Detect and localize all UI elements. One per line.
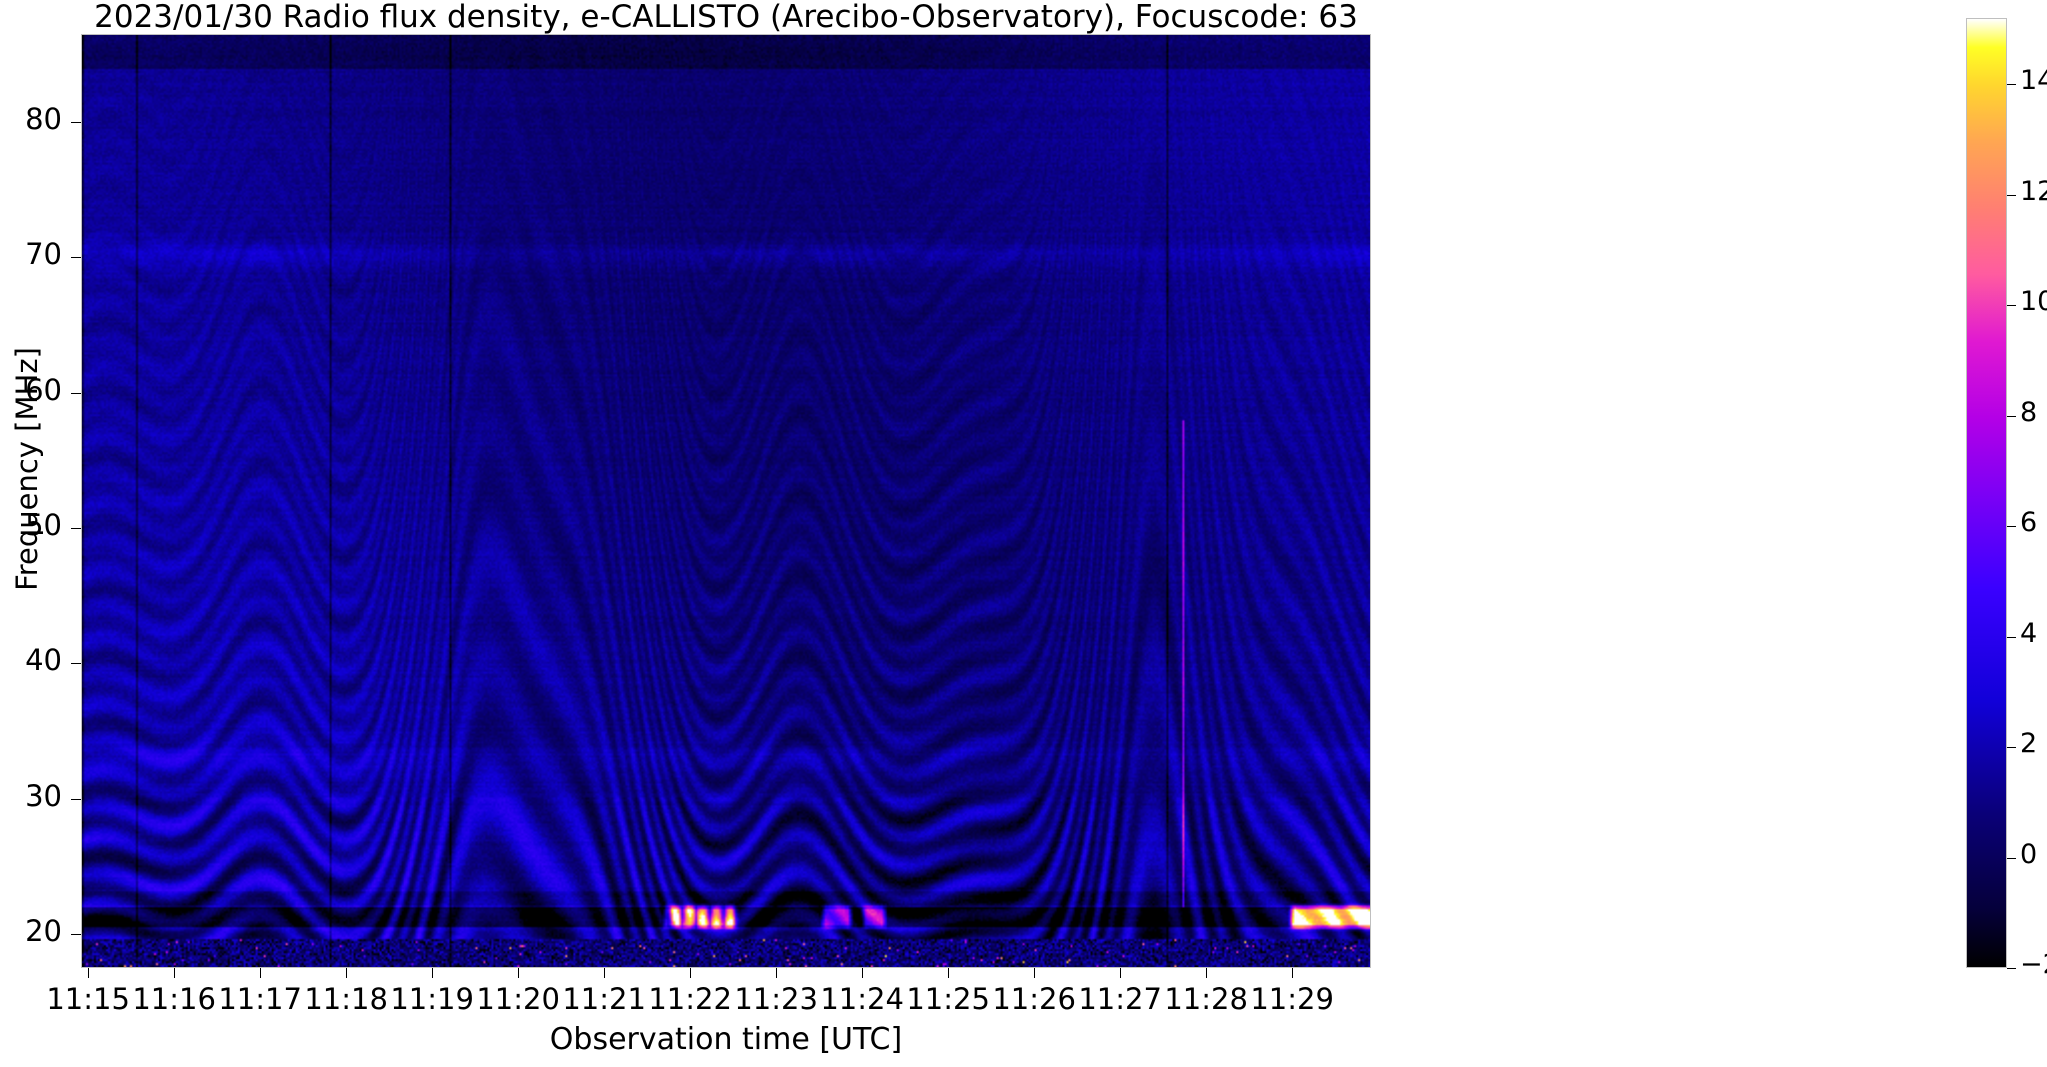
y-tick-label: 30 xyxy=(0,779,62,813)
colorbar-tick-label: 14 xyxy=(2020,65,2047,96)
y-tick-mark xyxy=(71,528,81,529)
colorbar-tick-label: 2 xyxy=(2020,728,2037,759)
spectrogram-axes xyxy=(81,34,1371,968)
colorbar-tick-mark xyxy=(2007,968,2016,969)
y-tick-mark xyxy=(71,799,81,800)
y-tick-mark xyxy=(71,663,81,664)
colorbar-tick-mark xyxy=(2007,747,2016,748)
y-tick-mark xyxy=(71,122,81,123)
colorbar-tick-label: 12 xyxy=(2020,176,2047,207)
x-tick-mark xyxy=(174,968,175,978)
colorbar-tick-label: 4 xyxy=(2020,618,2037,649)
colorbar-tick-mark xyxy=(2007,416,2016,417)
x-tick-mark xyxy=(1206,968,1207,978)
y-tick-mark xyxy=(71,934,81,935)
x-tick-mark xyxy=(862,968,863,978)
y-axis-label: Frequency [MHz] xyxy=(10,229,44,709)
x-tick-mark xyxy=(1120,968,1121,978)
figure-canvas: 2023/01/30 Radio flux density, e-CALLIST… xyxy=(0,0,2047,1067)
y-tick-mark xyxy=(71,257,81,258)
x-tick-label: 11:29 xyxy=(1212,982,1372,1016)
colorbar-tick-label: 10 xyxy=(2020,286,2047,317)
x-axis-label: Observation time [UTC] xyxy=(81,1022,1371,1057)
colorbar-tick-mark xyxy=(2007,526,2016,527)
x-tick-mark xyxy=(948,968,949,978)
x-tick-mark xyxy=(1292,968,1293,978)
colorbar-tick-mark xyxy=(2007,305,2016,306)
y-tick-mark xyxy=(71,393,81,394)
x-tick-mark xyxy=(690,968,691,978)
x-tick-mark xyxy=(432,968,433,978)
y-tick-label: 80 xyxy=(0,102,62,136)
colorbar-tick-mark xyxy=(2007,858,2016,859)
x-tick-mark xyxy=(346,968,347,978)
x-tick-mark xyxy=(776,968,777,978)
colorbar-tick-mark xyxy=(2007,195,2016,196)
x-tick-mark xyxy=(260,968,261,978)
colorbar-tick-label: 0 xyxy=(2020,839,2037,870)
page-title: 2023/01/30 Radio flux density, e-CALLIST… xyxy=(81,0,1371,34)
y-tick-label: 20 xyxy=(0,914,62,948)
colorbar xyxy=(1966,18,2007,968)
colorbar-tick-mark xyxy=(2007,84,2016,85)
x-tick-mark xyxy=(604,968,605,978)
colorbar-tick-mark xyxy=(2007,637,2016,638)
colorbar-gradient xyxy=(1967,19,2006,967)
colorbar-tick-label: 6 xyxy=(2020,507,2037,538)
colorbar-tick-label: 8 xyxy=(2020,397,2037,428)
x-tick-mark xyxy=(1034,968,1035,978)
x-tick-mark xyxy=(518,968,519,978)
x-tick-mark xyxy=(88,968,89,978)
spectrogram-heatmap xyxy=(82,35,1370,967)
colorbar-tick-label: −2 xyxy=(2020,949,2047,980)
